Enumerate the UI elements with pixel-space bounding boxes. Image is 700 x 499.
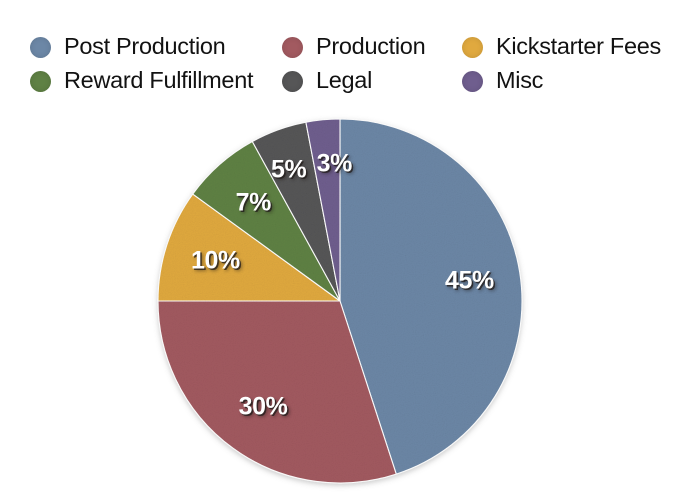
pie-svg: Post Production 45%Production 30%Kicksta…	[0, 0, 700, 499]
pie-plot-area: Post Production 45%Production 30%Kicksta…	[0, 0, 700, 499]
pie-chart-figure: Post Production Production Kickstarter F…	[0, 0, 700, 499]
